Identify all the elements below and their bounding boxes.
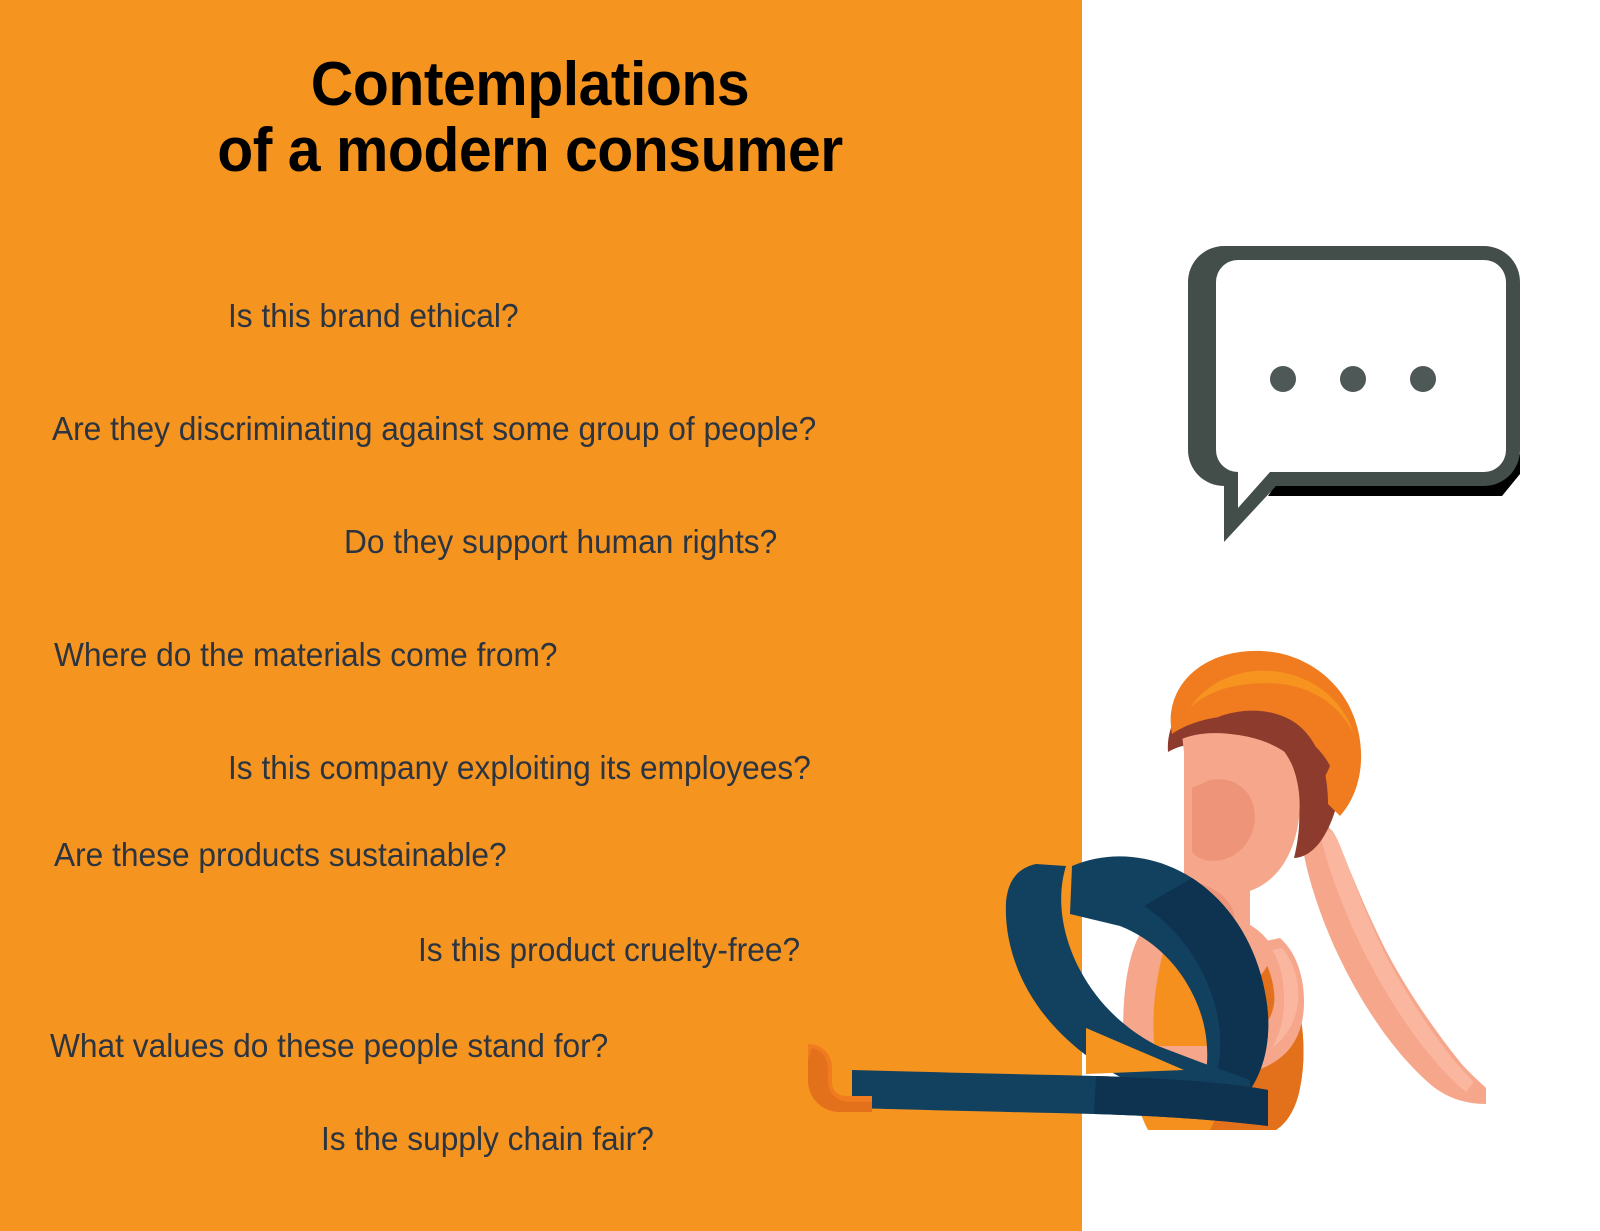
question-item-4: Where do the materials come from? — [54, 635, 558, 675]
question-item-7: Is this product cruelty-free? — [418, 930, 800, 970]
question-item-9: Is the supply chain fair? — [321, 1119, 654, 1159]
question-item-6: Are these products sustainable? — [54, 835, 507, 875]
ellipsis-dot-1 — [1270, 366, 1296, 392]
question-item-2: Are they discriminating against some gro… — [52, 409, 816, 449]
question-item-3: Do they support human rights? — [344, 522, 777, 562]
poster-canvas: Contemplations of a modern consumer Is t… — [0, 0, 1600, 1231]
question-item-5: Is this company exploiting its employees… — [228, 748, 811, 788]
title-line-2: of a modern consumer — [27, 118, 1034, 184]
support-arm — [1302, 826, 1486, 1104]
speech-bubble-icon — [1128, 222, 1528, 552]
ellipsis-dot-3 — [1410, 366, 1436, 392]
question-item-8: What values do these people stand for? — [50, 1026, 608, 1066]
question-item-1: Is this brand ethical? — [228, 296, 519, 336]
title-line-1: Contemplations — [27, 52, 1034, 118]
seated-person-illustration — [780, 630, 1500, 1150]
page-title: Contemplations of a modern consumer — [27, 52, 1034, 183]
ellipsis-dot-2 — [1340, 366, 1366, 392]
